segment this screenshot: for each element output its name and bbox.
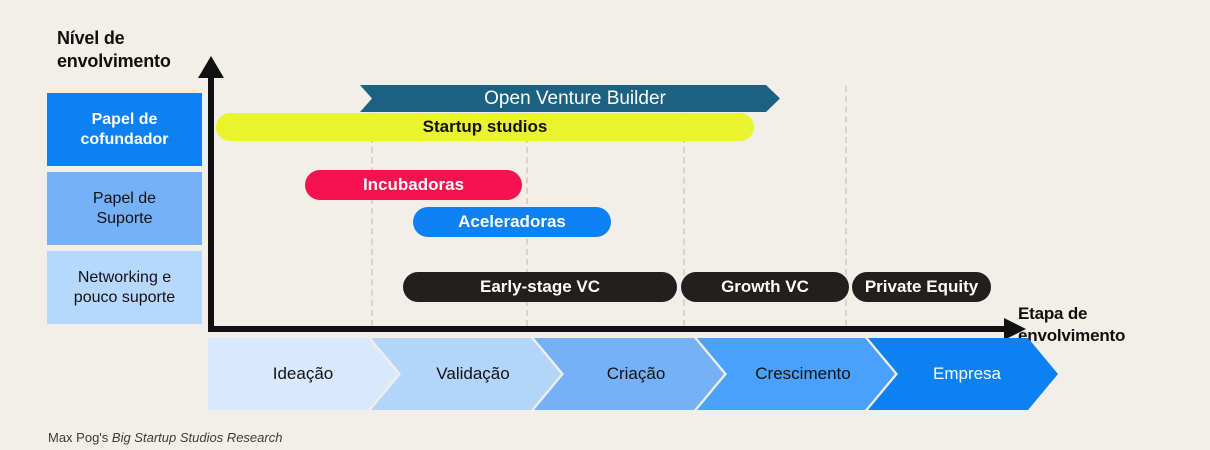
stage-empresa[interactable]: Empresa bbox=[868, 338, 1058, 410]
bar-incubadoras[interactable]: Incubadoras bbox=[305, 170, 522, 200]
bar-growth-vc[interactable]: Growth VC bbox=[681, 272, 849, 302]
y-axis-arrowhead-icon bbox=[198, 56, 224, 78]
bar-label: Aceleradoras bbox=[458, 212, 566, 232]
bar-label: Growth VC bbox=[721, 277, 809, 297]
bar-aceleradoras[interactable]: Aceleradoras bbox=[413, 207, 611, 237]
footer-title: Big Startup Studios Research bbox=[112, 430, 283, 445]
footer-attribution: Max Pog's Big Startup Studios Research bbox=[48, 430, 282, 445]
stage-validacao[interactable]: Validação bbox=[371, 338, 561, 410]
stage-ideacao[interactable]: Ideação bbox=[208, 338, 398, 410]
stage-label: Criação bbox=[593, 364, 666, 384]
legend-item-papel-de-cofundador[interactable]: Papel de cofundador bbox=[47, 93, 202, 166]
stage-label: Validação bbox=[422, 364, 509, 384]
stage-label: Empresa bbox=[925, 364, 1001, 384]
legend-item-networking-e-pouco-suporte[interactable]: Networking e pouco suporte bbox=[47, 251, 202, 324]
bar-label: Open Venture Builder bbox=[484, 88, 666, 110]
y-axis-line bbox=[208, 72, 214, 331]
bar-label: Startup studios bbox=[423, 117, 548, 137]
stage-label: Ideação bbox=[273, 364, 334, 384]
bar-early-stage-vc[interactable]: Early-stage VC bbox=[403, 272, 677, 302]
bar-startup-studios[interactable]: Startup studios bbox=[216, 113, 754, 141]
x-axis-line bbox=[208, 326, 1008, 332]
legend-item-papel-de-suporte[interactable]: Papel de Suporte bbox=[47, 172, 202, 245]
chart-canvas: Nível de envolvimento Etapa de envolvime… bbox=[0, 0, 1210, 450]
footer-prefix: Max Pog's bbox=[48, 430, 112, 445]
bar-private-equity[interactable]: Private Equity bbox=[852, 272, 991, 302]
stage-label: Crescimento bbox=[741, 364, 850, 384]
bar-label: Private Equity bbox=[865, 277, 978, 297]
legend-item-label: Papel de Suporte bbox=[93, 189, 156, 229]
bar-label: Early-stage VC bbox=[480, 277, 600, 297]
legend-item-label: Papel de cofundador bbox=[81, 110, 169, 150]
stage-crescimento[interactable]: Crescimento bbox=[697, 338, 895, 410]
stage-chevron-row: Ideação Validação Criação Crescimento Em… bbox=[208, 338, 1024, 410]
x-axis-title: Etapa de envolvimento bbox=[1018, 303, 1208, 347]
legend-item-label: Networking e pouco suporte bbox=[74, 268, 175, 308]
x-axis-arrowhead-icon bbox=[1004, 318, 1026, 340]
bar-open-venture-builder[interactable]: Open Venture Builder bbox=[360, 85, 780, 112]
bar-label: Incubadoras bbox=[363, 175, 464, 195]
stage-criacao[interactable]: Criação bbox=[534, 338, 724, 410]
